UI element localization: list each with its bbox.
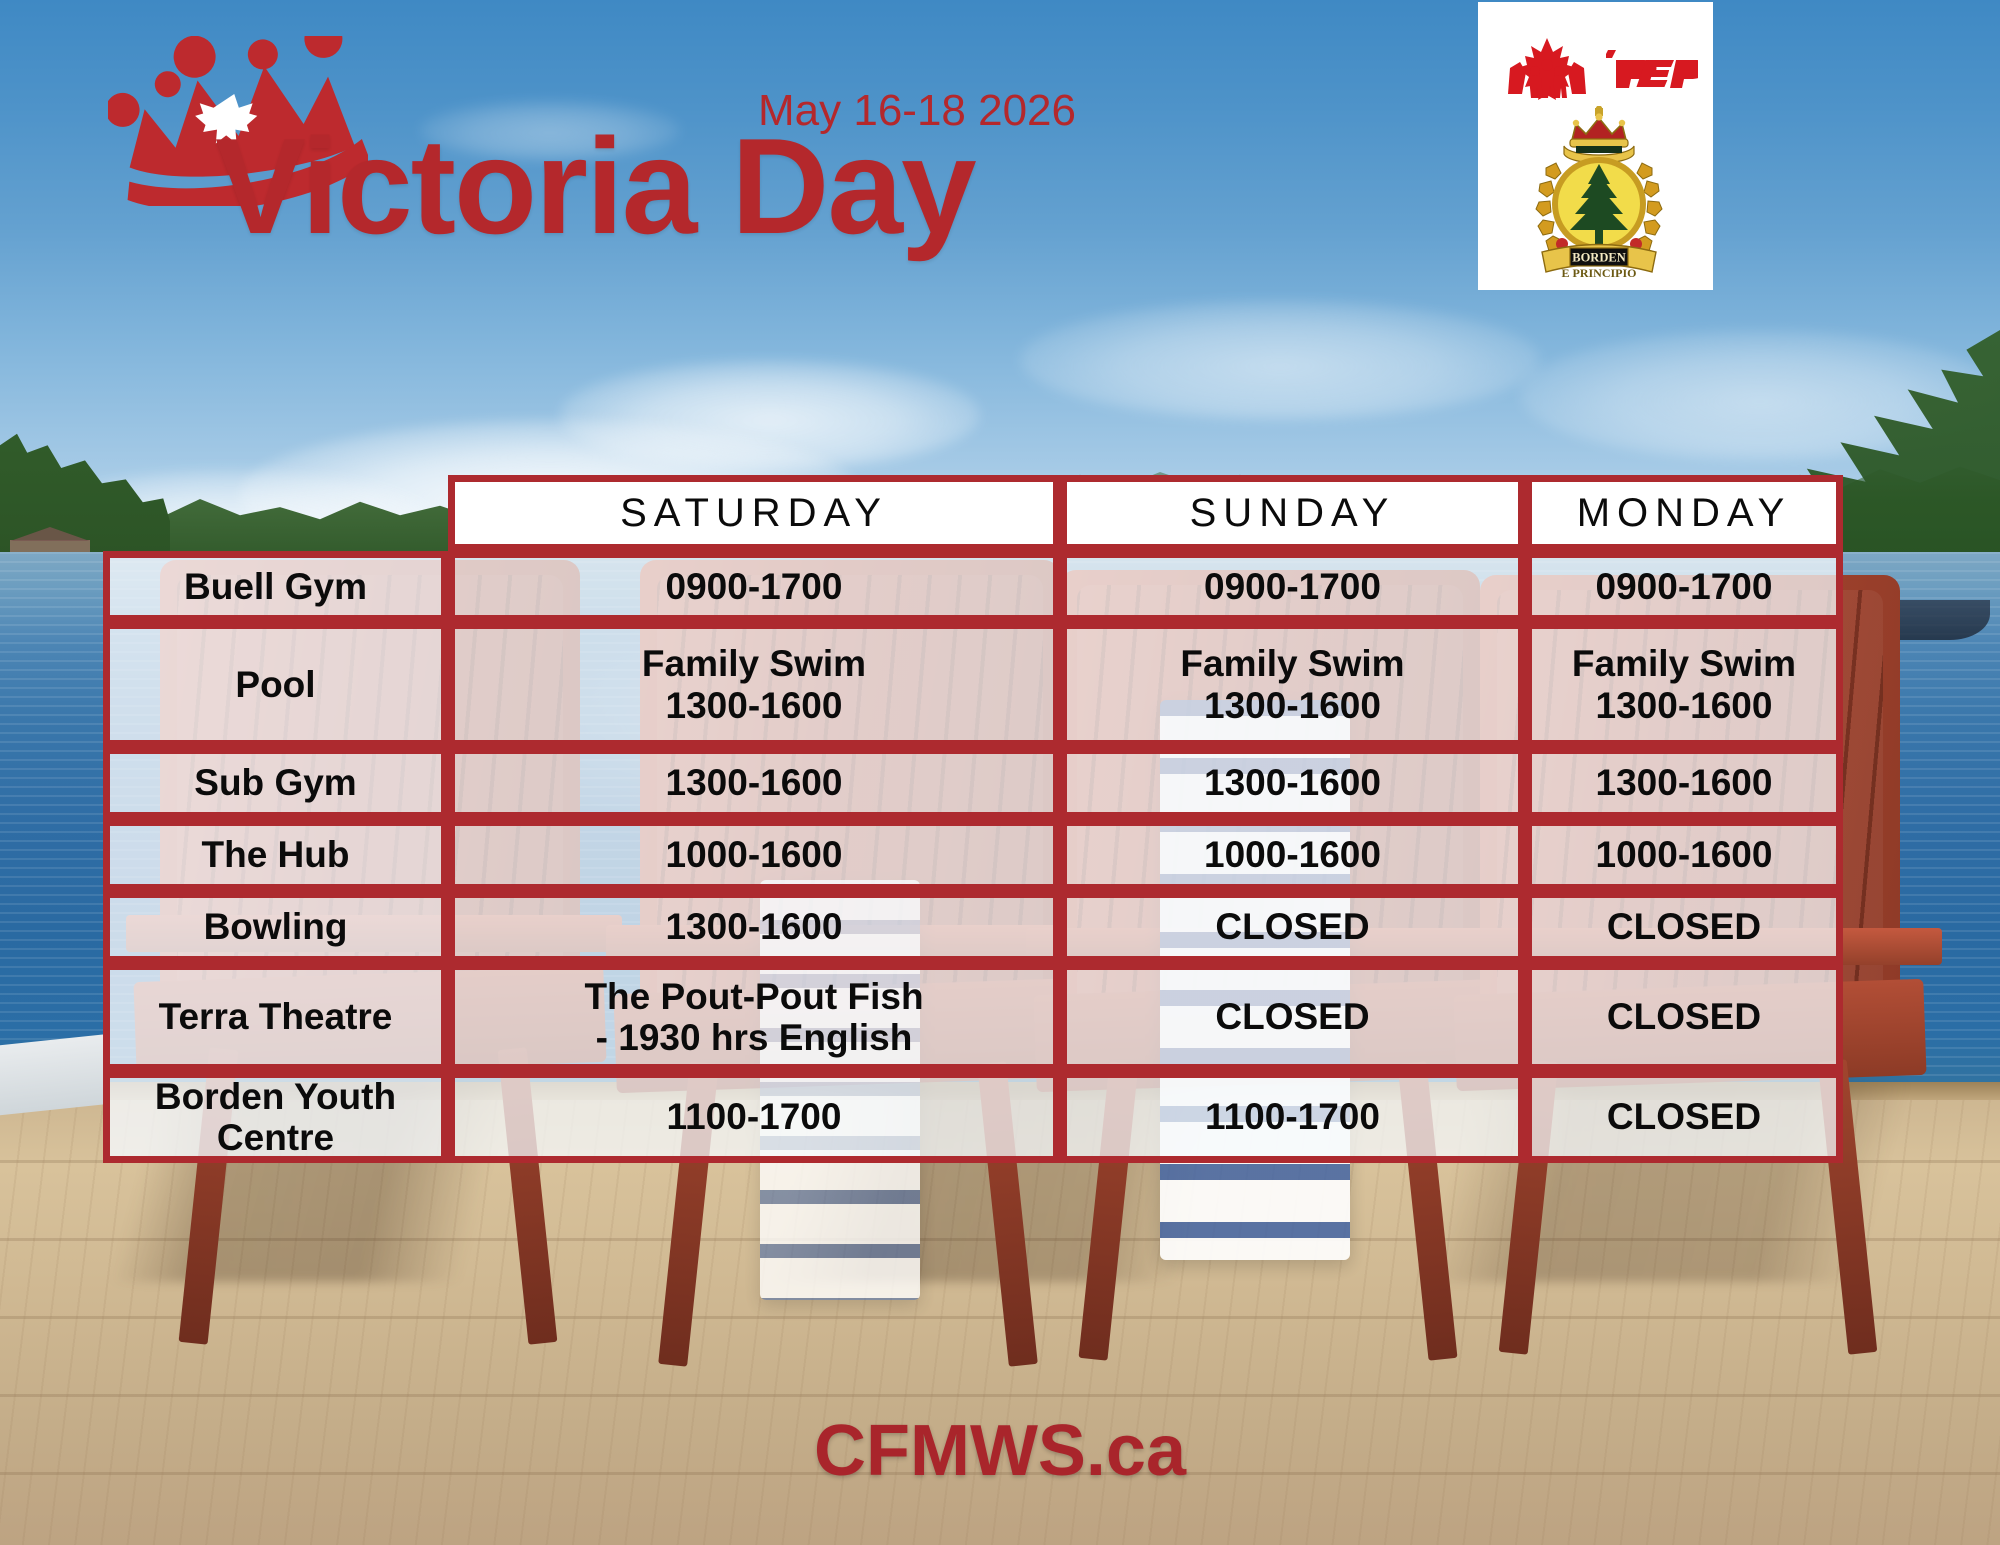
cell-the-hub-sunday: 1000-1600: [1060, 819, 1525, 891]
crest-banner-text: BORDEN: [1572, 251, 1625, 265]
dock-rail: [0, 1034, 110, 1117]
psp-logo-icon: [1606, 46, 1698, 92]
cell-terra-theatre-monday: CLOSED: [1525, 963, 1843, 1071]
row-label-sub-gym: Sub Gym: [103, 747, 448, 819]
column-header-sunday: SUNDAY: [1060, 475, 1525, 551]
cell-pool-monday: Family Swim1300-1600: [1525, 622, 1843, 747]
cell-borden-youth-centre-sunday: 1100-1700: [1060, 1071, 1525, 1163]
cell-buell-gym-saturday: 0900-1700: [448, 551, 1060, 622]
logo-panel: BORDEN E PRINCIPIO: [1478, 2, 1713, 290]
cell-the-hub-monday: 1000-1600: [1525, 819, 1843, 891]
row-label-bowling: Bowling: [103, 891, 448, 963]
cell-pool-sunday: Family Swim1300-1600: [1060, 622, 1525, 747]
cell-buell-gym-monday: 0900-1700: [1525, 551, 1843, 622]
column-header-monday: MONDAY: [1525, 475, 1843, 551]
cell-bowling-sunday: CLOSED: [1060, 891, 1525, 963]
row-label-buell-gym: Buell Gym: [103, 551, 448, 622]
row-label-the-hub: The Hub: [103, 819, 448, 891]
cell-pool-saturday: Family Swim1300-1600: [448, 622, 1060, 747]
cell-bowling-monday: CLOSED: [1525, 891, 1843, 963]
row-label-borden-youth-centre: Borden Youth Centre: [103, 1071, 448, 1163]
schedule-table: SATURDAYSUNDAYMONDAYBuell Gym0900-170009…: [103, 475, 1843, 1385]
event-date-range: May 16-18 2026: [758, 86, 1076, 136]
cell-bowling-saturday: 1300-1600: [448, 891, 1060, 963]
column-header-saturday: SATURDAY: [448, 475, 1060, 551]
cell-borden-youth-centre-monday: CLOSED: [1525, 1071, 1843, 1163]
cell-sub-gym-monday: 1300-1600: [1525, 747, 1843, 819]
cell-the-hub-saturday: 1000-1600: [448, 819, 1060, 891]
cell-terra-theatre-sunday: CLOSED: [1060, 963, 1525, 1071]
cell-buell-gym-sunday: 0900-1700: [1060, 551, 1525, 622]
cell-terra-theatre-saturday: The Pout-Pout Fish- 1930 hrs English: [448, 963, 1060, 1071]
cell-sub-gym-sunday: 1300-1600: [1060, 747, 1525, 819]
poster-canvas: Victoria Day May 16-18 2026: [0, 0, 2000, 1545]
cfmws-website-link[interactable]: CFMWS.ca: [0, 1410, 2000, 1492]
crest-motto-text: E PRINCIPIO: [1561, 266, 1636, 280]
row-label-pool: Pool: [103, 622, 448, 747]
cfmws-maple-leaf-family-icon: [1504, 38, 1590, 100]
table-corner-spacer: [103, 475, 448, 551]
cloud: [1020, 300, 1540, 420]
cell-sub-gym-saturday: 1300-1600: [448, 747, 1060, 819]
cell-borden-youth-centre-saturday: 1100-1700: [448, 1071, 1060, 1163]
cfb-borden-crest-icon: BORDEN E PRINCIPIO: [1524, 106, 1674, 282]
row-label-terra-theatre: Terra Theatre: [103, 963, 448, 1071]
logo-row: [1478, 38, 1713, 104]
